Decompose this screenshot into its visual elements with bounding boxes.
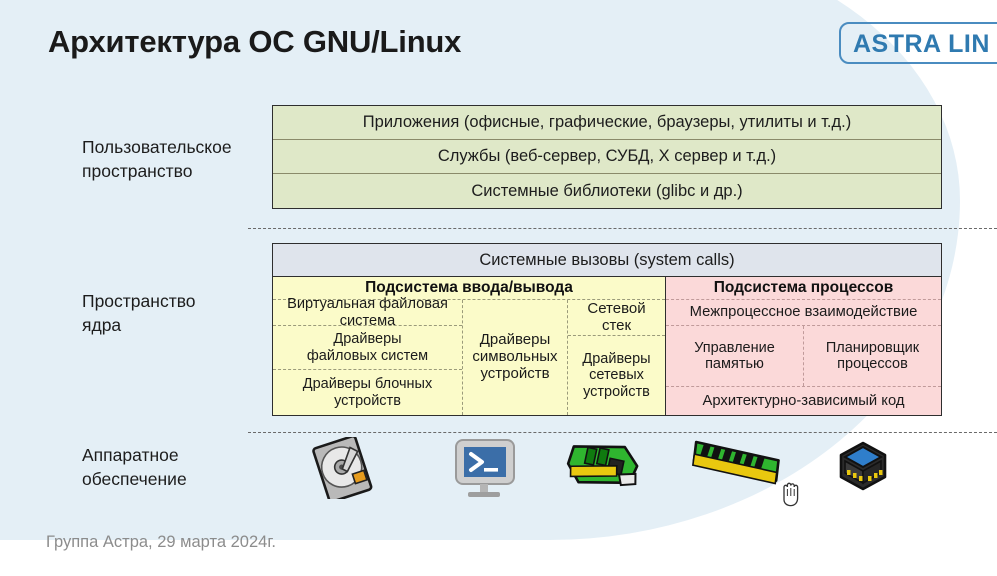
astra-linux-logo: ASTRA LIN [839,22,997,64]
label-user-space: Пользовательское пространство [82,136,232,183]
cell-network-stack: Сетевой стек [568,300,665,336]
page-title: Архитектура ОС GNU/Linux [48,24,461,60]
separator-kernel-hardware [248,432,997,433]
kernel-subsystems-grid: Подсистема ввода/вывода Виртуальная файл… [272,277,942,416]
cell-arch-dependent-code: Архитектурно-зависимый код [666,387,941,415]
process-subsystem-middle-row: Управление памятью Планировщик процессов [666,326,941,387]
cell-virtual-file-system: Виртуальная файловая система [273,300,462,326]
process-subsystem-title: Подсистема процессов [666,277,941,300]
user-space-block: Приложения (офисные, графические, браузе… [272,105,942,209]
hard-disk-icon [306,437,378,504]
io-column-char: Драйверы символьных устройств [463,300,568,415]
cell-char-drivers: Драйверы символьных устройств [463,300,567,415]
footer-text: Группа Астра, 29 марта 2024г. [46,533,276,552]
system-calls-row: Системные вызовы (system calls) [272,243,942,277]
network-card-icon [562,437,644,504]
io-subsystem-body: Виртуальная файловая система Драйверы фа… [273,300,665,415]
cpu-chip-icon [832,437,894,504]
slide-canvas: Архитектура ОС GNU/Linux ASTRA LIN Польз… [0,0,997,576]
label-kernel-space: Пространство ядра [82,290,196,337]
label-hardware: Аппаратное обеспечение [82,444,187,491]
terminal-monitor-icon [450,437,520,504]
io-column-filesystem: Виртуальная файловая система Драйверы фа… [273,300,463,415]
kernel-space-block: Системные вызовы (system calls) Подсисте… [272,243,942,416]
cell-fs-drivers: Драйверы файловых систем [273,326,462,370]
cell-block-drivers: Драйверы блочных устройств [273,370,462,415]
io-column-network: Сетевой стек Драйверы сетевых устройств [568,300,665,415]
cell-network-drivers: Драйверы сетевых устройств [568,336,665,415]
cell-ipc: Межпроцессное взаимодействие [666,300,941,326]
ram-module-icon [684,437,784,504]
hardware-icons-row [272,437,942,499]
process-subsystem: Подсистема процессов Межпроцессное взаим… [666,277,941,415]
userspace-row-services: Службы (веб-сервер, СУБД, X сервер и т.д… [273,140,941,174]
cell-memory-management: Управление памятью [666,326,804,386]
cell-scheduler: Планировщик процессов [804,326,941,386]
io-subsystem: Подсистема ввода/вывода Виртуальная файл… [273,277,666,415]
astra-linux-logo-text: ASTRA LIN [853,30,990,59]
separator-user-kernel [248,228,997,229]
userspace-row-libraries: Системные библиотеки (glibc и др.) [273,174,941,208]
process-subsystem-body: Межпроцессное взаимодействие Управление … [666,300,941,415]
userspace-row-applications: Приложения (офисные, графические, браузе… [273,106,941,140]
